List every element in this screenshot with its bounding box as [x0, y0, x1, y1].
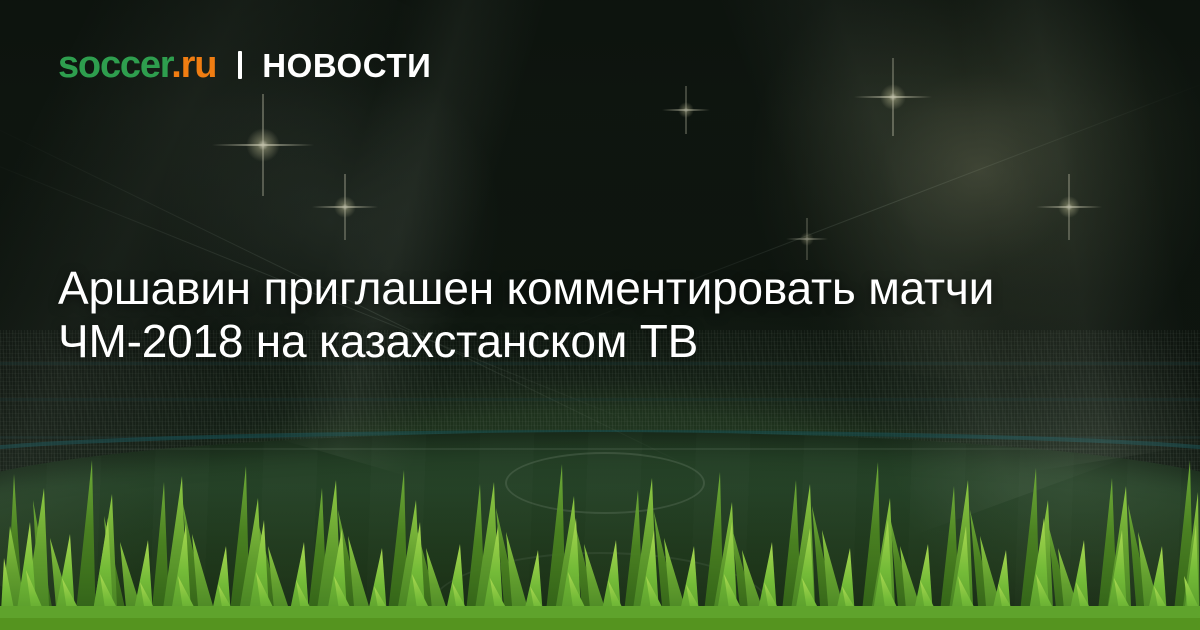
logo-text-ru: .ru — [171, 44, 216, 86]
foreground-grass — [0, 430, 1200, 630]
header-separator-icon — [238, 51, 242, 79]
soccer-ru-logo[interactable]: soccer.ru — [58, 46, 216, 84]
share-card: soccer.ru НОВОСТИ Аршавин приглашен комм… — [0, 0, 1200, 630]
logo-text-soccer: soccer — [58, 44, 171, 86]
brand-header: soccer.ru НОВОСТИ — [58, 46, 431, 84]
article-headline: Аршавин приглашен комментировать матчи Ч… — [58, 262, 1148, 368]
section-label-news: НОВОСТИ — [262, 49, 431, 82]
